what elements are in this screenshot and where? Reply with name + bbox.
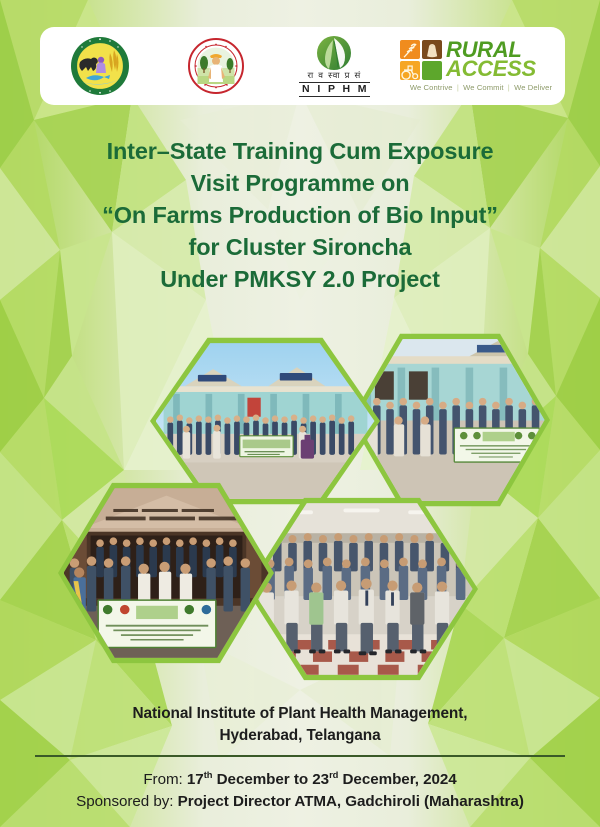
- tractor-tile-icon: [400, 61, 420, 80]
- title-line-5: Under PMKSY 2.0 Project: [34, 263, 566, 295]
- tagline-separator-1: |: [455, 83, 461, 92]
- poster-title: Inter–State Training Cum Exposure Visit …: [0, 135, 600, 295]
- start-day: 17: [187, 771, 204, 788]
- programme-dates: From: 17th December to 23rd December, 20…: [0, 764, 600, 791]
- header-logo-bar: रा व स्वा प्र सं N I P H M: [40, 27, 565, 105]
- rural-access-logo: RURAL ACCESS We Contrive | We Commit | W…: [400, 40, 562, 92]
- niphm-hindi-abbr: रा व स्वा प्र सं: [307, 72, 361, 81]
- institution-line-2: Hyderabad, Telangana: [0, 725, 600, 747]
- rural-access-tiles-icon: [400, 40, 442, 80]
- poster-canvas: रा व स्वा प्र सं N I P H M: [0, 0, 600, 827]
- niphm-logo: रा व स्वा प्र सं N I P H M: [299, 35, 370, 96]
- end-day: 23: [312, 771, 329, 788]
- photo-biocontrol-laboratory-group: [58, 481, 274, 665]
- photo-collage: [0, 318, 600, 698]
- end-month: December,: [343, 771, 419, 788]
- tagline-part-1: We Contrive: [410, 83, 453, 92]
- rural-access-tagline: We Contrive | We Commit | We Deliver: [400, 83, 562, 92]
- tagline-separator-2: |: [506, 83, 512, 92]
- tagline-part-3: We Deliver: [514, 83, 552, 92]
- poster-footer: National Institute of Plant Health Manag…: [0, 703, 600, 813]
- photo-station-group-banner: [350, 332, 550, 508]
- title-line-4: for Cluster Sironcha: [34, 231, 566, 263]
- title-line-3: “On Farms Production of Bio Input”: [34, 199, 566, 231]
- year: 2024: [423, 771, 457, 788]
- field-tile-icon: [422, 61, 442, 80]
- tagline-part-2: We Commit: [463, 83, 503, 92]
- logo-slot-maharashtra-seal: [160, 27, 272, 105]
- start-month: December: [217, 771, 290, 788]
- sponsor-label: Sponsored by:: [76, 793, 173, 810]
- footer-divider: [35, 755, 565, 757]
- niphm-leaf-icon: [316, 35, 352, 71]
- dates-label: From:: [143, 771, 182, 788]
- niphm-english-abbr: N I P H M: [299, 82, 370, 97]
- sponsor-value: Project Director ATMA, Gadchiroli (Mahar…: [178, 793, 524, 810]
- title-line-1: Inter–State Training Cum Exposure: [34, 135, 566, 167]
- photo-indoor-hall-group: [246, 496, 478, 682]
- grain-sack-tile-icon: [422, 40, 442, 59]
- sponsor-line: Sponsored by: Project Director ATMA, Gad…: [0, 791, 600, 813]
- institution-line-1: National Institute of Plant Health Manag…: [0, 703, 600, 725]
- logo-slot-niphm: रा व स्वा प्र सं N I P H M: [272, 27, 397, 105]
- title-line-2: Visit Programme on: [34, 167, 566, 199]
- start-ordinal: th: [204, 769, 213, 780]
- end-ordinal: rd: [329, 769, 338, 780]
- rural-access-word-access: ACCESS: [446, 60, 536, 79]
- wheat-tile-icon: [400, 40, 420, 59]
- agriculture-department-seal-icon: [70, 36, 130, 96]
- logo-slot-agriculture-department: [40, 27, 160, 105]
- maharashtra-farmer-seal-icon: [188, 38, 244, 94]
- dates-connector: to: [294, 771, 308, 788]
- logo-slot-rural-access: RURAL ACCESS We Contrive | We Commit | W…: [397, 27, 565, 105]
